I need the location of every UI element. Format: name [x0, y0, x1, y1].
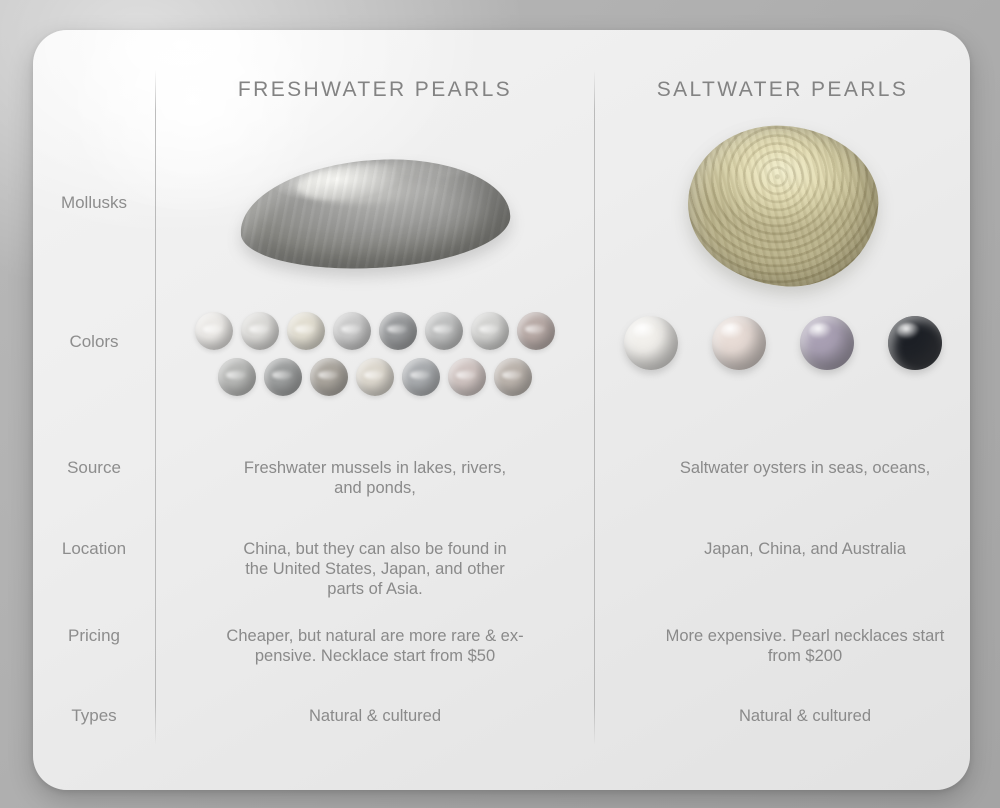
pearl-swatch [494, 358, 532, 396]
pearl-swatch [333, 312, 371, 350]
pearl-swatch [264, 358, 302, 396]
freshwater-types-text: Natural & cultured [156, 706, 594, 726]
saltwater-source-text: Saltwater oysters in seas, oceans, [595, 458, 970, 478]
mussel-shell-texture [237, 153, 512, 275]
row-label-location: Location [33, 539, 155, 559]
saltwater-types-text: Natural & cultured [595, 706, 970, 726]
row-label-types: Types [33, 706, 155, 726]
pearl-swatch [402, 358, 440, 396]
row-label-mollusks: Mollusks [33, 193, 155, 213]
freshwater-source-text: Freshwater mussels in lakes, rivers, and… [156, 458, 594, 498]
pearl-swatch [471, 312, 509, 350]
saltwater-location-text: Japan, China, and Australia [595, 539, 970, 559]
pearl-swatch [888, 316, 942, 370]
comparison-grid: Mollusks Colors Source Location Pricing … [33, 30, 970, 790]
oyster-shell-icon [682, 120, 883, 293]
pearl-swatch [448, 358, 486, 396]
pearl-swatch [800, 316, 854, 370]
freshwater-location-text: China, but they can also be found in the… [156, 539, 594, 599]
pearl-swatch [517, 312, 555, 350]
pearl-swatch [624, 316, 678, 370]
freshwater-pearl-row-2 [156, 358, 594, 396]
freshwater-mollusk-cell [156, 130, 594, 280]
comparison-card: Mollusks Colors Source Location Pricing … [33, 30, 970, 790]
pearl-swatch [425, 312, 463, 350]
saltwater-column-header: SALTWATER PEARLS [595, 78, 970, 102]
pearl-swatch [287, 312, 325, 350]
pearl-swatch [310, 358, 348, 396]
mussel-shell-icon [237, 153, 512, 275]
saltwater-pricing-text: More expensive. Pearl necklaces start fr… [595, 626, 970, 666]
pearl-swatch [379, 312, 417, 350]
freshwater-column-header: FRESHWATER PEARLS [156, 78, 594, 102]
saltwater-mollusk-cell [595, 118, 970, 293]
pearl-swatch [712, 316, 766, 370]
freshwater-pearl-row-1 [156, 312, 594, 350]
saltwater-pearl-swatches [595, 316, 970, 370]
row-label-source: Source [33, 458, 155, 478]
pearl-swatch [195, 312, 233, 350]
row-label-colors: Colors [33, 332, 155, 352]
row-label-pricing: Pricing [33, 626, 155, 646]
freshwater-pricing-text: Cheaper, but natural are more rare & ex-… [156, 626, 594, 666]
pearl-swatch [241, 312, 279, 350]
pearl-swatch [218, 358, 256, 396]
pearl-swatch [356, 358, 394, 396]
freshwater-pearl-swatches [156, 312, 594, 404]
